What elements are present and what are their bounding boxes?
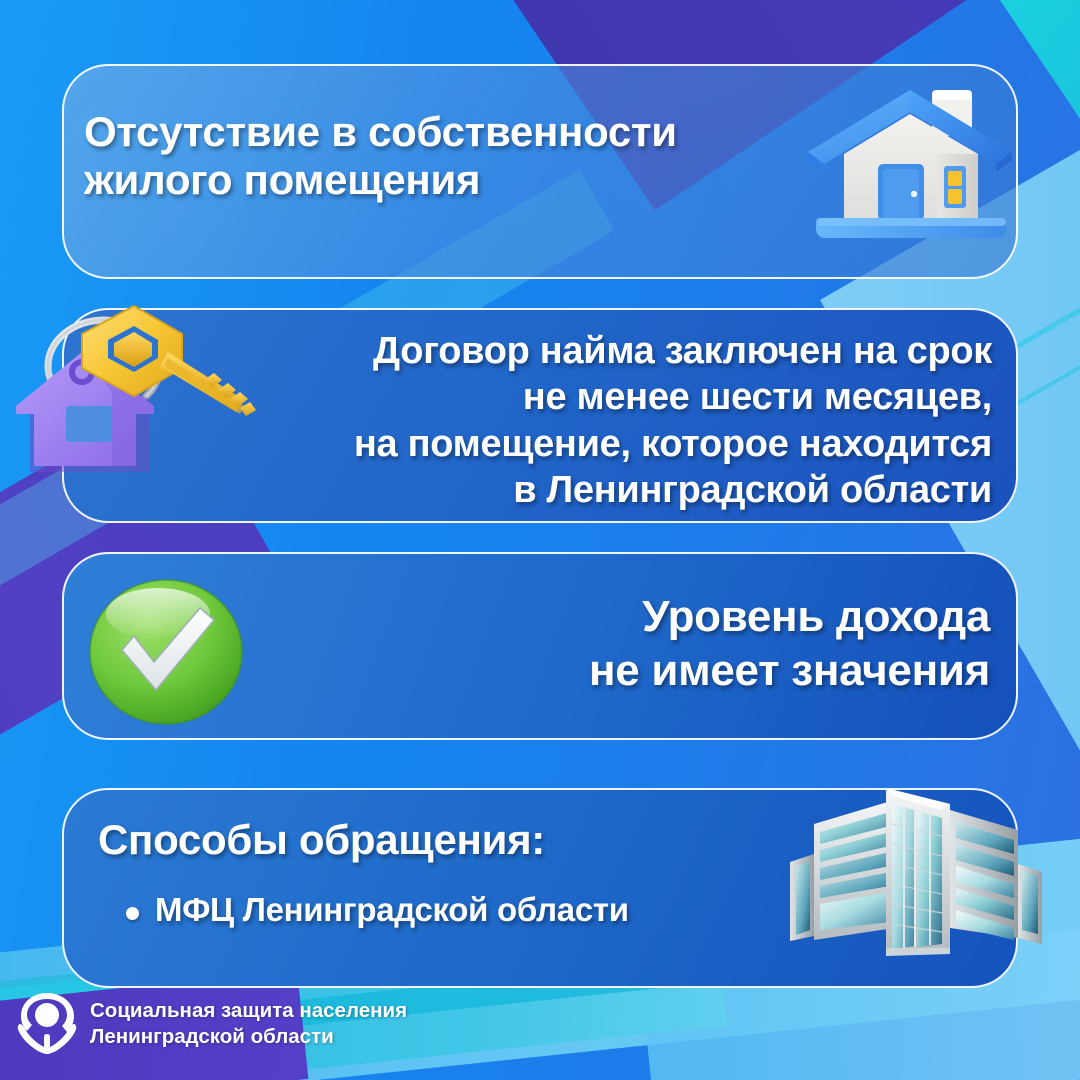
card-lease-term-text: Договор найма заключен на срок не менее … xyxy=(162,328,992,513)
key-with-house-keychain-icon xyxy=(4,296,262,510)
footer: Социальная защита населения Ленинградско… xyxy=(0,968,1080,1080)
list-item: МФЦ Ленинградской области xyxy=(126,890,826,930)
social-protection-logo xyxy=(16,988,78,1060)
house-3d-icon xyxy=(792,68,1028,268)
office-building-icon xyxy=(782,778,1050,962)
footer-text: Социальная защита населения Ленинградско… xyxy=(90,998,407,1050)
footer-line-2: Ленинградской области xyxy=(90,1024,407,1050)
card-no-property-text: Отсутствие в собственности жилого помеще… xyxy=(84,108,844,204)
card-income-level-text: Уровень дохода не имеет значения xyxy=(270,590,990,697)
green-check-circle-icon xyxy=(78,570,254,730)
card-how-to-apply-item-label: МФЦ Ленинградской области xyxy=(155,890,629,930)
footer-line-1: Социальная защита населения xyxy=(90,998,407,1024)
bullet-dot-icon xyxy=(126,907,139,920)
card-how-to-apply-heading: Способы обращения: xyxy=(98,816,738,864)
